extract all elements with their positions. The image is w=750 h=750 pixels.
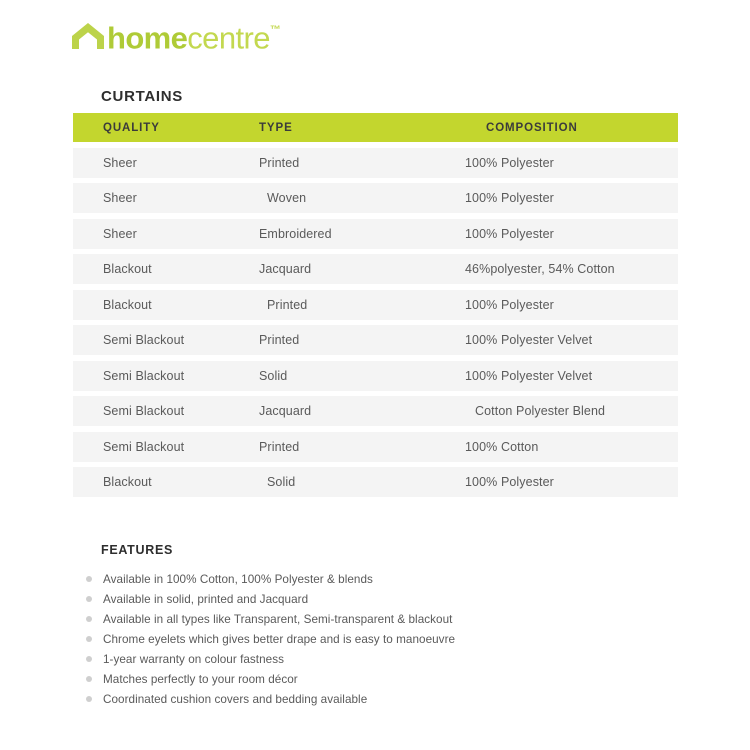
cell-quality: Semi Blackout (73, 369, 251, 383)
column-header-type: TYPE (251, 122, 451, 134)
brand-wordmark: homecentre™ (107, 17, 281, 55)
cell-quality: Sheer (73, 227, 251, 241)
table-header-row: QUALITY TYPE COMPOSITION (73, 113, 678, 142)
features-title: FEATURES (101, 543, 621, 557)
list-item: Available in solid, printed and Jacquard (101, 589, 621, 609)
table-row: Sheer Embroidered 100% Polyester (73, 219, 678, 249)
cell-quality: Blackout (73, 475, 251, 489)
list-item: Available in all types like Transparent,… (101, 609, 621, 629)
cell-composition: 100% Polyester Velvet (451, 333, 678, 347)
bullet-icon (86, 676, 92, 682)
cell-quality: Blackout (73, 298, 251, 312)
cell-quality: Semi Blackout (73, 404, 251, 418)
cell-composition: Cotton Polyester Blend (451, 404, 678, 418)
table-row: Blackout Solid 100% Polyester (73, 467, 678, 497)
page-title: CURTAINS (101, 88, 183, 105)
cell-type: Jacquard (251, 404, 451, 418)
table-row: Semi Blackout Printed 100% Polyester Vel… (73, 325, 678, 355)
cell-composition: 100% Polyester (451, 227, 678, 241)
table-row: Blackout Printed 100% Polyester (73, 290, 678, 320)
cell-composition: 46%polyester, 54% Cotton (451, 262, 678, 276)
cell-composition: 100% Polyester (451, 475, 678, 489)
cell-quality: Sheer (73, 156, 251, 170)
features-section: FEATURES Available in 100% Cotton, 100% … (101, 543, 621, 709)
cell-composition: 100% Cotton (451, 440, 678, 454)
column-header-composition: COMPOSITION (451, 122, 678, 134)
feature-text: Coordinated cushion covers and bedding a… (103, 693, 367, 706)
table-row: Semi Blackout Printed 100% Cotton (73, 432, 678, 462)
table-row: Blackout Jacquard 46%polyester, 54% Cott… (73, 254, 678, 284)
cell-type: Printed (251, 156, 451, 170)
list-item: Coordinated cushion covers and bedding a… (101, 689, 621, 709)
list-item: Matches perfectly to your room décor (101, 669, 621, 689)
list-item: 1-year warranty on colour fastness (101, 649, 621, 669)
house-roof-icon (71, 17, 107, 51)
bullet-icon (86, 616, 92, 622)
cell-type: Printed (251, 440, 451, 454)
bullet-icon (86, 596, 92, 602)
cell-quality: Semi Blackout (73, 333, 251, 347)
feature-text: Matches perfectly to your room décor (103, 673, 298, 686)
feature-text: Available in 100% Cotton, 100% Polyester… (103, 573, 373, 586)
list-item: Available in 100% Cotton, 100% Polyester… (101, 569, 621, 589)
brand-logo: homecentre™ (71, 17, 281, 57)
bullet-icon (86, 656, 92, 662)
feature-text: Chrome eyelets which gives better drape … (103, 633, 455, 646)
feature-text: Available in solid, printed and Jacquard (103, 593, 308, 606)
table-row: Sheer Woven 100% Polyester (73, 183, 678, 213)
brand-name-centre: centre (187, 20, 270, 55)
cell-composition: 100% Polyester (451, 298, 678, 312)
cell-type: Printed (251, 333, 451, 347)
table-row: Sheer Printed 100% Polyester (73, 148, 678, 178)
brand-name-home: home (107, 20, 187, 55)
list-item: Chrome eyelets which gives better drape … (101, 629, 621, 649)
bullet-icon (86, 636, 92, 642)
column-header-quality: QUALITY (73, 122, 251, 134)
bullet-icon (86, 576, 92, 582)
cell-type: Solid (251, 369, 451, 383)
cell-composition: 100% Polyester Velvet (451, 369, 678, 383)
cell-quality: Semi Blackout (73, 440, 251, 454)
feature-text: Available in all types like Transparent,… (103, 613, 452, 626)
cell-composition: 100% Polyester (451, 156, 678, 170)
trademark-symbol: ™ (270, 24, 281, 36)
cell-type: Printed (251, 298, 451, 312)
cell-type: Woven (251, 191, 451, 205)
cell-type: Solid (251, 475, 451, 489)
bullet-icon (86, 696, 92, 702)
cell-type: Jacquard (251, 262, 451, 276)
cell-composition: 100% Polyester (451, 191, 678, 205)
cell-quality: Sheer (73, 191, 251, 205)
table-row: Semi Blackout Solid 100% Polyester Velve… (73, 361, 678, 391)
curtains-table: QUALITY TYPE COMPOSITION Sheer Printed 1… (73, 113, 678, 497)
cell-quality: Blackout (73, 262, 251, 276)
cell-type: Embroidered (251, 227, 451, 241)
feature-text: 1-year warranty on colour fastness (103, 653, 284, 666)
table-row: Semi Blackout Jacquard Cotton Polyester … (73, 396, 678, 426)
